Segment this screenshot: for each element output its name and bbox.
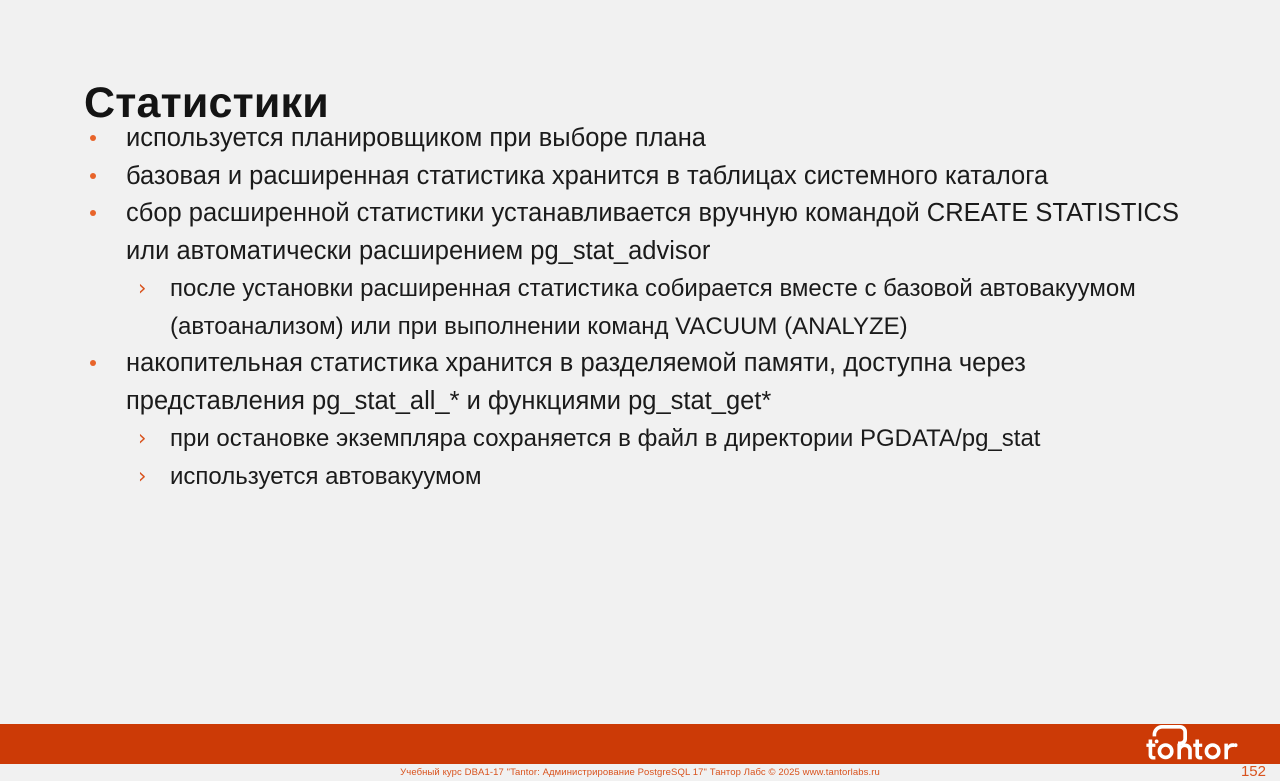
sub-list-item: › после установки расширенная статистика… [126,270,1204,345]
footer-accent-bar [0,724,1280,764]
sub-list-item: › используется автовакуумом [126,458,1204,496]
bullet-list: используется планировщиком при выборе пл… [84,120,1204,495]
bullet-dot-icon [90,210,96,216]
list-item: накопительная статистика хранится в разд… [84,345,1204,495]
slide: Статистики используется планировщиком пр… [0,0,1280,781]
list-item-text: сбор расширенной статистики устанавливае… [126,195,1204,270]
list-item-text: используется планировщиком при выборе пл… [126,120,1204,158]
sub-bullet-list: › при остановке экземпляра сохраняется в… [126,420,1204,495]
chevron-right-icon: › [138,458,146,496]
bullet-dot-icon [90,135,96,141]
sub-list-item: › при остановке экземпляра сохраняется в… [126,420,1204,458]
chevron-right-icon: › [138,270,146,308]
tantor-logo-mark [1140,722,1270,766]
list-item: используется планировщиком при выборе пл… [84,120,1204,158]
sub-list-item-text: при остановке экземпляра сохраняется в ф… [170,420,1204,458]
list-item: сбор расширенной статистики устанавливае… [84,195,1204,345]
sub-list-item-text: используется автовакуумом [170,458,1204,496]
footer-copyright-note: Учебный курс DBA1-17 "Tantor: Администри… [0,764,1280,781]
sub-list-item-text: после установки расширенная статистика с… [170,270,1204,345]
chevron-right-icon: › [138,420,146,458]
page-number: 152 [1241,763,1266,781]
sub-bullet-list: › после установки расширенная статистика… [126,270,1204,345]
list-item-text: накопительная статистика хранится в разд… [126,345,1204,420]
bullet-list-container: используется планировщиком при выборе пл… [84,120,1204,495]
tantor-logo [1140,722,1270,766]
bullet-dot-icon [90,173,96,179]
list-item: базовая и расширенная статистика хранитс… [84,158,1204,196]
list-item-text: базовая и расширенная статистика хранитс… [126,158,1204,196]
bullet-dot-icon [90,360,96,366]
